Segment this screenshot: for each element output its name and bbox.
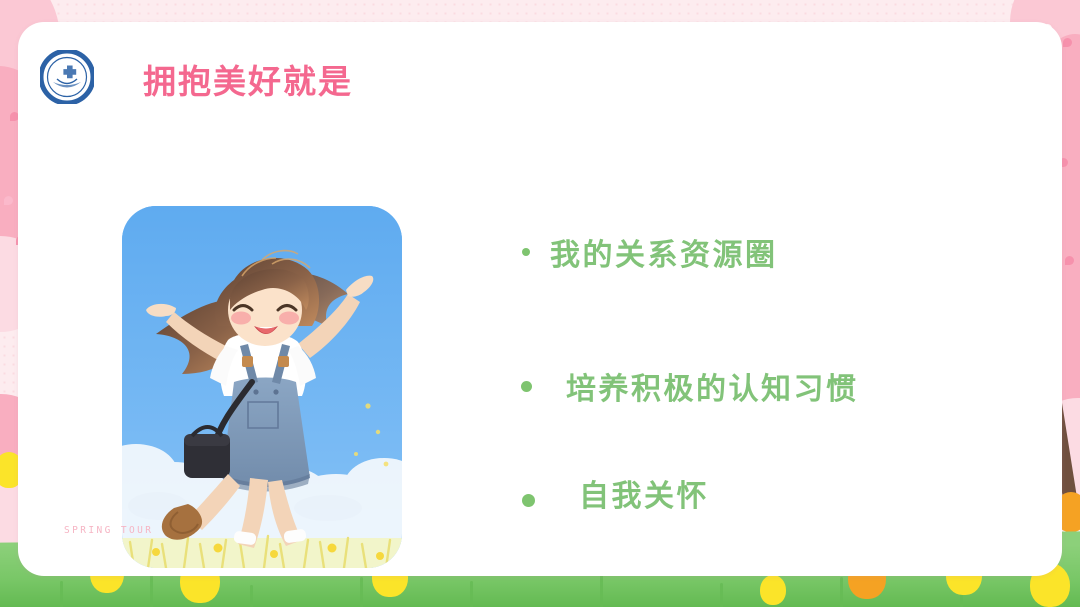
list-item[interactable]: 自我关怀 — [500, 471, 1020, 515]
list-item-label: 我的关系资源圈 — [550, 230, 778, 274]
content-card: · · · · · · · · · · · · 拥抱美好就是 — [18, 22, 1062, 576]
svg-text:· · · · · ·: · · · · · · — [62, 56, 73, 60]
bullet-dot-icon — [522, 494, 535, 507]
blossom-petal-icon — [4, 196, 13, 205]
list-item-label: 培养积极的认知习惯 — [566, 364, 859, 408]
yellow-flower — [760, 575, 786, 605]
jumping-girl-illustration — [122, 206, 402, 568]
bullet-list: 我的关系资源圈 培养积极的认知习惯 自我关怀 — [500, 230, 1020, 515]
list-item[interactable]: 培养积极的认知习惯 — [500, 364, 1020, 408]
list-item[interactable]: 我的关系资源圈 — [500, 230, 1020, 274]
slide-canvas: · · · · · · · · · · · · 拥抱美好就是 — [0, 0, 1080, 607]
bullet-dot-icon — [521, 381, 532, 392]
list-item-label: 自我关怀 — [579, 471, 709, 515]
blossom-petal-icon — [1065, 256, 1074, 265]
watermark-text: SPRING TOUR — [64, 525, 153, 536]
bullet-dot-icon — [522, 248, 530, 256]
svg-text:· · · · · ·: · · · · · · — [62, 95, 73, 99]
blossom-petal-icon — [1063, 38, 1072, 47]
page-title: 拥抱美好就是 — [143, 55, 353, 103]
school-emblem: · · · · · · · · · · · · — [40, 50, 94, 104]
